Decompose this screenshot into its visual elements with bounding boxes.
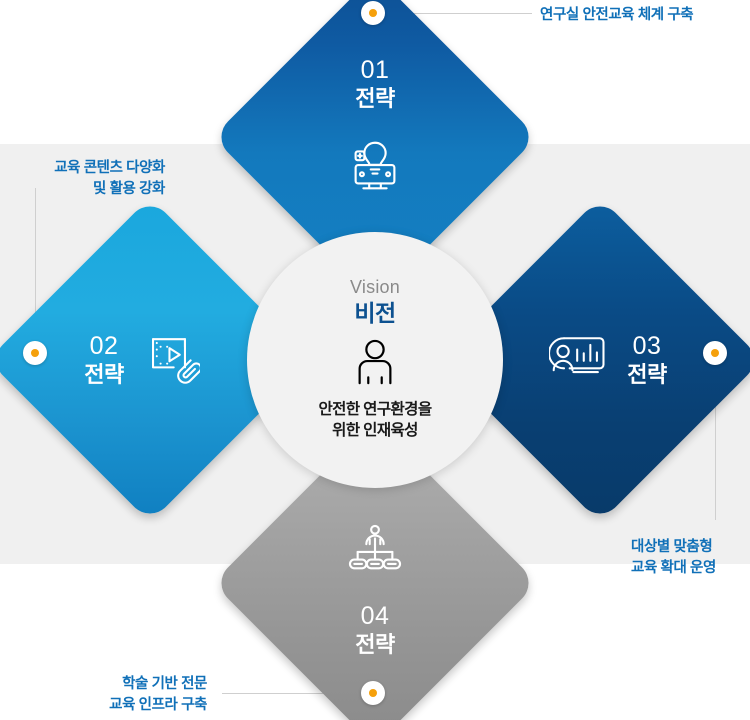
connector-dot-strategy-01[interactable] (361, 1, 385, 25)
callout-strategy-03-line-1: 대상별 맞춤형 (631, 537, 716, 558)
vision-eyebrow: Vision (350, 278, 400, 298)
strategy-01-number: 01 (355, 56, 394, 85)
vision-description-line-2: 위한 인재육성 (319, 421, 432, 442)
presentation-chart-person-icon (549, 330, 611, 391)
person-icon (350, 339, 400, 392)
org-chart-icon (346, 523, 404, 580)
strategy-02-label: 전략 (84, 361, 123, 389)
callout-strategy-04-line-2: 교육 인프라 구축 (109, 695, 207, 716)
vision-description-line-1: 안전한 연구환경을 (319, 400, 432, 421)
strategy-diamond-03-content: 03 전략 (485, 245, 715, 475)
callout-strategy-02-line-1: 교육 콘텐츠 다양화 (54, 158, 165, 179)
callout-strategy-03-line-2: 교육 확대 운영 (631, 558, 716, 579)
strategy-01-label: 전략 (355, 85, 394, 113)
callout-strategy-04-line-1: 학술 기반 전문 (109, 674, 207, 695)
callout-strategy-03: 대상별 맞춤형 교육 확대 운영 (631, 537, 716, 579)
lightbulb-monitor-icon (344, 135, 406, 202)
connector-dot-strategy-04[interactable] (361, 681, 385, 705)
callout-strategy-02: 교육 콘텐츠 다양화 및 활용 강화 (54, 158, 165, 200)
vision-title: 비전 (354, 300, 395, 328)
connector-dot-strategy-03[interactable] (703, 341, 727, 365)
strategy-diamond-02-content: 02 전략 (35, 245, 265, 475)
strategy-02-number: 02 (84, 332, 123, 361)
strategy-04-label: 전략 (355, 631, 394, 659)
connector-dot-strategy-02[interactable] (23, 341, 47, 365)
callout-strategy-01: 연구실 안전교육 체계 구축 (540, 5, 693, 26)
vision-description: 안전한 연구환경을 위한 인재육성 (319, 400, 432, 442)
strategy-diamond-01-content: 01 전략 (260, 22, 490, 252)
strategy-diamond-04-content: 04 전략 (260, 468, 490, 698)
callout-strategy-01-line-1: 연구실 안전교육 체계 구축 (540, 5, 693, 26)
vision-center-circle[interactable]: Vision 비전 안전한 연구환경을 위한 인재육성 (247, 232, 503, 488)
strategy-03-label: 전략 (627, 361, 666, 389)
strategy-04-number: 04 (355, 602, 394, 631)
strategy-03-number: 03 (627, 332, 666, 361)
callout-strategy-04: 학술 기반 전문 교육 인프라 구축 (109, 674, 207, 716)
callout-strategy-02-line-2: 및 활용 강화 (54, 179, 165, 200)
infographic-canvas: 01 전략 (0, 0, 750, 720)
video-attachment-icon (138, 329, 200, 392)
